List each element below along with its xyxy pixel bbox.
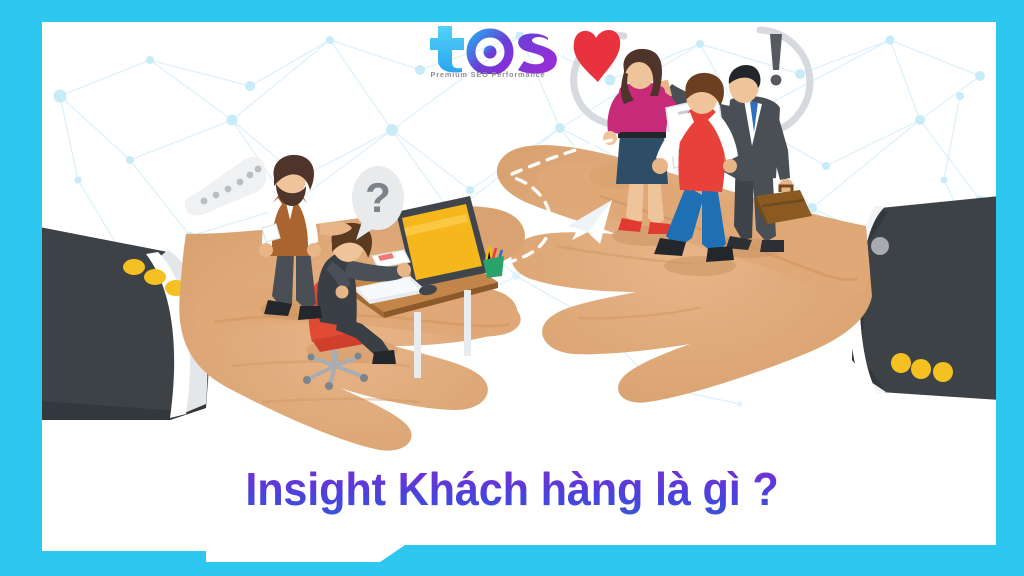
cufflink [871, 237, 889, 255]
svg-text:?: ? [365, 174, 391, 221]
artboard: ? Premium SEO Performance Insight Khách … [0, 0, 1024, 576]
poster-canvas: ? Premium SEO Performance Insight Khách … [0, 0, 1024, 576]
page-title: Insight Khách hàng là gì ? [31, 461, 994, 517]
